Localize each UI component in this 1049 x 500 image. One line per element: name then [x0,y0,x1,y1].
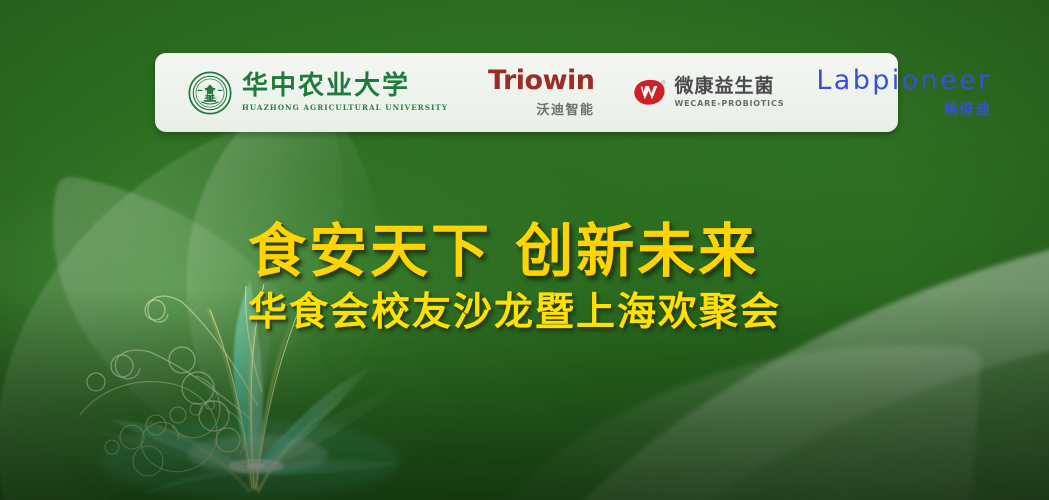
hero-subheadline: 华食会校友沙龙暨上海欢聚会 [248,293,868,332]
labpioneer-name-en: Labpioneer [816,67,991,94]
labpioneer-text-block: Labpioneer 埃倍迪 [816,67,991,119]
wecare-text-block: 微康益生菌 WECARE-PROBIOTICS [675,77,785,109]
triowin-name-cn: 沃迪智能 [488,99,595,118]
svg-text:R: R [662,81,664,84]
wecare-name-en: WECARE-PROBIOTICS [675,99,785,108]
wecare-swoosh-icon: R [633,78,667,108]
triowin-name-en: Triowin [488,67,595,94]
hzau-name-cn: 华中农业大学 [242,73,448,100]
university-seal-icon [188,71,232,115]
logo-labpioneer[interactable]: Labpioneer 埃倍迪 [784,53,991,132]
wecare-name-cn: 微康益生菌 [675,77,785,97]
logo-hzau[interactable]: 华中农业大学 HUAZHONG AGRICULTURAL UNIVERSITY [155,53,448,132]
hero-text-block: 食安天下 创新未来 华食会校友沙龙暨上海欢聚会 [248,222,868,332]
triowin-text-block: Triowin 沃迪智能 [488,67,595,118]
hzau-name-en: HUAZHONG AGRICULTURAL UNIVERSITY [242,103,448,112]
logo-wecare[interactable]: R 微康益生菌 WECARE-PROBIOTICS [595,53,785,132]
hero-headline: 食安天下 创新未来 [248,222,868,280]
hzau-text-block: 华中农业大学 HUAZHONG AGRICULTURAL UNIVERSITY [242,73,448,112]
event-banner: 华中农业大学 HUAZHONG AGRICULTURAL UNIVERSITY … [0,0,1049,500]
sponsor-logo-bar: 华中农业大学 HUAZHONG AGRICULTURAL UNIVERSITY … [155,53,898,132]
labpioneer-name-cn: 埃倍迪 [816,99,991,119]
logo-triowin[interactable]: Triowin 沃迪智能 [448,53,595,132]
